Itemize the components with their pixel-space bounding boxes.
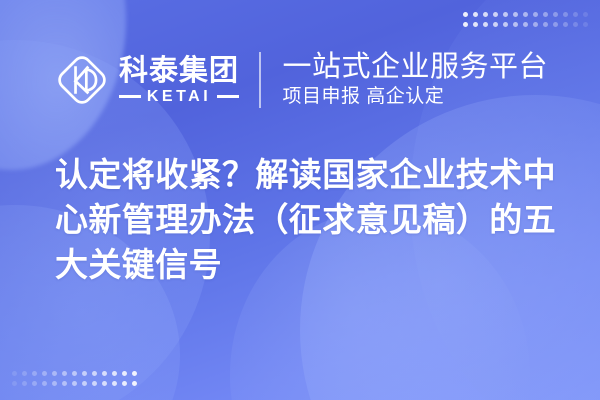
banner-header: 科泰集团 KETAI 一站式企业服务平台 项目申报 高企认定: [0, 44, 600, 116]
decorative-dot: [62, 381, 67, 386]
decorative-dot: [72, 371, 77, 376]
dot-row: [463, 12, 588, 17]
decorative-dot: [132, 381, 137, 386]
article-cover-banner: 科泰集团 KETAI 一站式企业服务平台 项目申报 高企认定 认定将收紧？解读国…: [0, 0, 600, 400]
decorative-dot: [42, 371, 47, 376]
decorative-dot: [22, 381, 27, 386]
decorative-dot: [82, 371, 87, 376]
decorative-dot: [62, 371, 67, 376]
decorative-dot: [583, 22, 588, 27]
dot-row: [463, 22, 588, 27]
decorative-dot: [82, 381, 87, 386]
decorative-dot: [52, 381, 57, 386]
decorative-dot: [483, 12, 488, 17]
decorative-dot: [553, 12, 558, 17]
decorative-dot: [473, 12, 478, 17]
company-name-en: KETAI: [147, 88, 211, 105]
vertical-divider: [259, 52, 261, 108]
decorative-dot: [473, 22, 478, 27]
decorative-dot: [12, 371, 17, 376]
decorative-dot: [533, 12, 538, 17]
decorative-dot: [72, 381, 77, 386]
dot-row: [12, 381, 137, 386]
article-title: 认定将收紧？解读国家企业技术中心新管理办法（征求意见稿）的五大关键信号: [55, 152, 565, 287]
brand-wordmark: 科泰集团 KETAI: [119, 56, 239, 105]
decorative-dot: [102, 381, 107, 386]
decorative-dot: [483, 22, 488, 27]
tagline-block: 一站式企业服务平台 项目申报 高企认定: [283, 51, 549, 109]
decorative-dot: [122, 371, 127, 376]
decorative-dot: [553, 22, 558, 27]
decorative-dot: [543, 12, 548, 17]
company-name-cn: 科泰集团: [119, 56, 239, 86]
ketai-diamond-k-logo-icon: [55, 53, 109, 107]
decorative-dot: [543, 22, 548, 27]
decorative-dot: [52, 371, 57, 376]
decorative-dot: [503, 22, 508, 27]
decorative-dot: [463, 22, 468, 27]
decorative-dot: [493, 12, 498, 17]
decorative-dot: [573, 12, 578, 17]
decorative-dot: [523, 22, 528, 27]
decorative-dot: [513, 12, 518, 17]
wordmark-rule-left: [119, 95, 141, 98]
decorative-dot: [32, 381, 37, 386]
dot-grid-bottom-left: [12, 371, 137, 386]
decorative-dot: [523, 12, 528, 17]
decorative-dot: [563, 12, 568, 17]
decorative-dot: [132, 371, 137, 376]
decorative-dot: [122, 381, 127, 386]
tagline-secondary: 项目申报 高企认定: [283, 85, 549, 109]
decorative-dot: [112, 381, 117, 386]
decorative-dot: [583, 12, 588, 17]
decorative-dot: [92, 371, 97, 376]
decorative-dot: [92, 381, 97, 386]
decorative-dot: [533, 22, 538, 27]
tagline-primary: 一站式企业服务平台: [283, 51, 549, 84]
wordmark-rule-right: [217, 95, 239, 98]
dot-grid-top-right: [463, 12, 588, 27]
company-name-en-row: KETAI: [119, 88, 239, 105]
dot-row: [12, 371, 137, 376]
decorative-dot: [42, 381, 47, 386]
decorative-dot: [463, 12, 468, 17]
decorative-dot: [112, 371, 117, 376]
decorative-dot: [493, 22, 498, 27]
decorative-dot: [32, 371, 37, 376]
decorative-dot: [513, 22, 518, 27]
decorative-dot: [12, 381, 17, 386]
decorative-dot: [573, 22, 578, 27]
decorative-dot: [22, 371, 27, 376]
decorative-dot: [503, 12, 508, 17]
decorative-dot: [563, 22, 568, 27]
decorative-dot: [102, 371, 107, 376]
brand-logo[interactable]: 科泰集团 KETAI: [55, 53, 239, 107]
